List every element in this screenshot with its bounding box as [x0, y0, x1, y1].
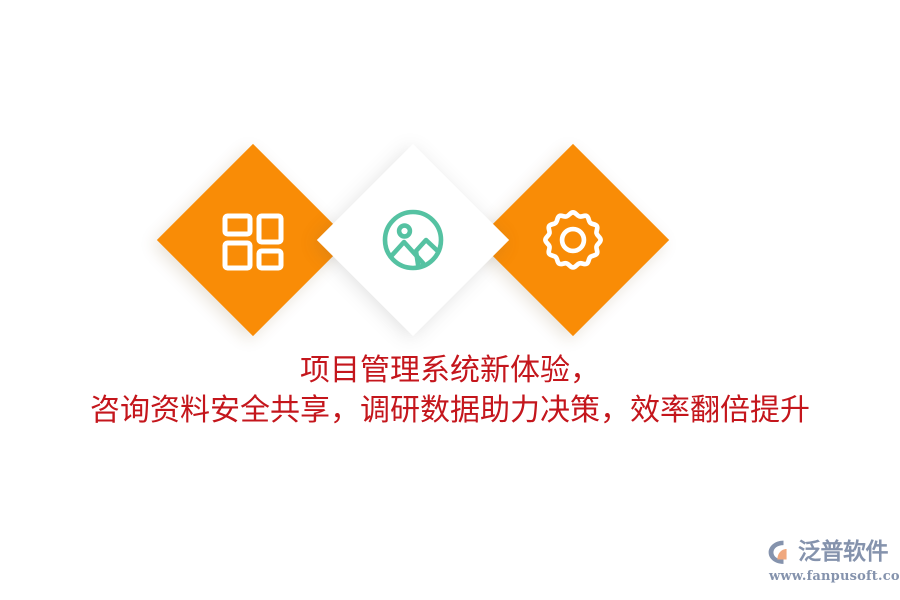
headline: 项目管理系统新体验， 咨询资料安全共享，调研数据助力决策，效率翻倍提升 [0, 351, 900, 431]
brand-name: 泛普软件 [798, 538, 888, 566]
image-photo-icon [378, 205, 448, 275]
brand-logo[interactable]: 泛普软件 www.fanpusoft.com [766, 536, 896, 592]
fanpu-logo-mark-icon [766, 538, 794, 566]
brand-logo-row: 泛普软件 [766, 536, 896, 568]
banner-canvas: 项目管理系统新体验， 咨询资料安全共享，调研数据助力决策，效率翻倍提升 泛普软件… [0, 0, 900, 600]
diamond-tile-settings-content [505, 172, 641, 308]
diamond-tile-image-content [345, 172, 481, 308]
diamond-tile-image[interactable] [317, 144, 509, 336]
headline-line-1: 项目管理系统新体验， [0, 351, 900, 391]
headline-line-2: 咨询资料安全共享，调研数据助力决策，效率翻倍提升 [0, 391, 900, 431]
grid-dashboard-icon [219, 206, 287, 274]
diamond-cluster [0, 0, 900, 360]
brand-url: www.fanpusoft.com [766, 569, 896, 584]
gear-settings-icon [539, 206, 607, 274]
diamond-tile-dashboard-content [185, 172, 321, 308]
